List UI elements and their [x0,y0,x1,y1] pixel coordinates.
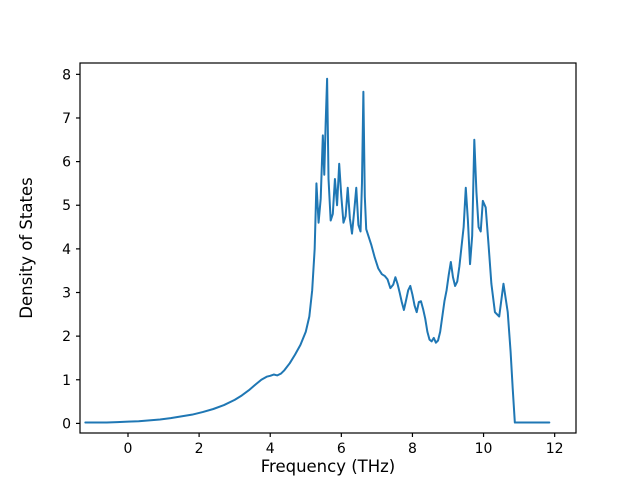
y-tick-label: 1 [62,373,71,389]
x-tick-label: 4 [266,441,275,457]
x-tick-label: 6 [337,441,346,457]
y-tick-label: 8 [62,67,71,83]
x-tick-label: 8 [408,441,417,457]
y-tick-label: 6 [62,155,71,171]
y-tick-label: 4 [62,242,71,258]
figure-canvas: 024681012 012345678 Frequency (THz) Dens… [0,0,640,480]
y-axis-title: Density of States [17,177,36,318]
chart-plot: 024681012 012345678 Frequency (THz) Dens… [0,0,640,480]
x-tick-label: 10 [475,441,493,457]
x-tick-label: 2 [195,441,204,457]
x-axis-ticks: 024681012 [124,433,564,457]
y-axis-ticks: 012345678 [62,67,80,432]
y-tick-label: 5 [62,198,71,214]
y-tick-label: 7 [62,111,71,127]
y-tick-label: 3 [62,286,71,302]
y-tick-label: 2 [62,329,71,345]
x-tick-label: 0 [124,441,133,457]
y-tick-label: 0 [62,416,71,432]
x-tick-label: 12 [546,441,564,457]
x-axis-title: Frequency (THz) [261,457,396,476]
